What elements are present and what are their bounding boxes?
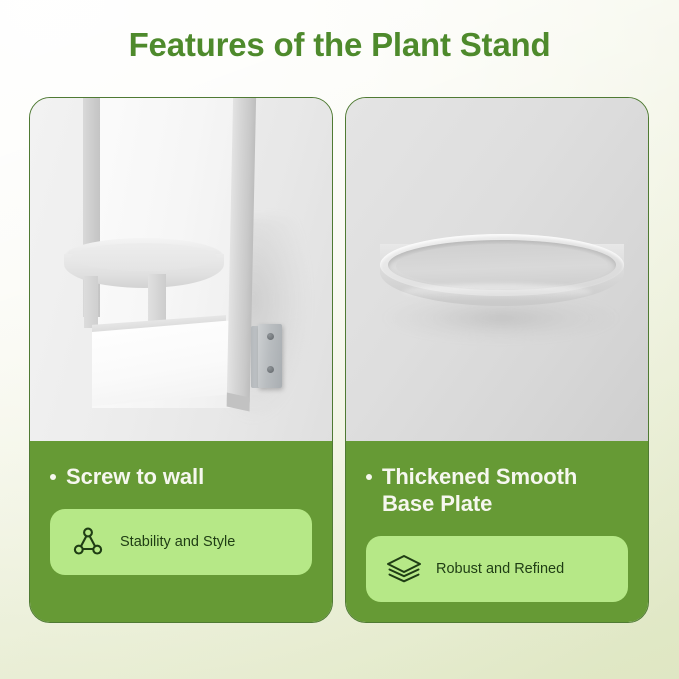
feature-card-grid: Screw to wall Stability and Style <box>29 97 650 623</box>
page-title: Features of the Plant Stand <box>0 25 679 65</box>
feature-headline-text: Screw to wall <box>66 463 204 490</box>
bullet-dot-icon <box>50 474 56 480</box>
feature-headline: Screw to wall <box>50 463 312 490</box>
feature-card-screw-to-wall: Screw to wall Stability and Style <box>29 97 333 623</box>
benefit-label: Robust and Refined <box>436 560 564 578</box>
feature-benefit-pill: Robust and Refined <box>366 536 628 602</box>
plate-inner-well <box>396 244 608 288</box>
stand-round-shelf-inner <box>71 243 217 271</box>
bullet-dot-icon <box>366 474 372 480</box>
product-photo-wall-mount <box>30 98 332 441</box>
feature-headline: Thickened Smooth Base Plate <box>366 463 628 517</box>
stacked-layers-icon <box>384 549 424 589</box>
feature-info-panel: Screw to wall Stability and Style <box>30 441 332 622</box>
infographic-page: Features of the Plant Stand <box>0 0 679 679</box>
plate-highlight <box>402 284 592 300</box>
benefit-label: Stability and Style <box>120 533 235 551</box>
feature-headline-text: Thickened Smooth Base Plate <box>382 463 577 517</box>
stand-lower-panel <box>92 320 235 406</box>
wall-bracket-with-screws <box>258 324 282 388</box>
feature-benefit-pill: Stability and Style <box>50 509 312 575</box>
product-photo-base-plate <box>346 98 648 441</box>
feature-headline-line-2: Base Plate <box>382 491 492 516</box>
stand-support-leg-a <box>84 276 98 328</box>
feature-headline-line-1: Thickened Smooth <box>382 464 577 489</box>
feature-card-base-plate: Thickened Smooth Base Plate Robust and R… <box>345 97 649 623</box>
triangle-nodes-icon <box>68 522 108 562</box>
feature-info-panel: Thickened Smooth Base Plate Robust and R… <box>346 441 648 622</box>
